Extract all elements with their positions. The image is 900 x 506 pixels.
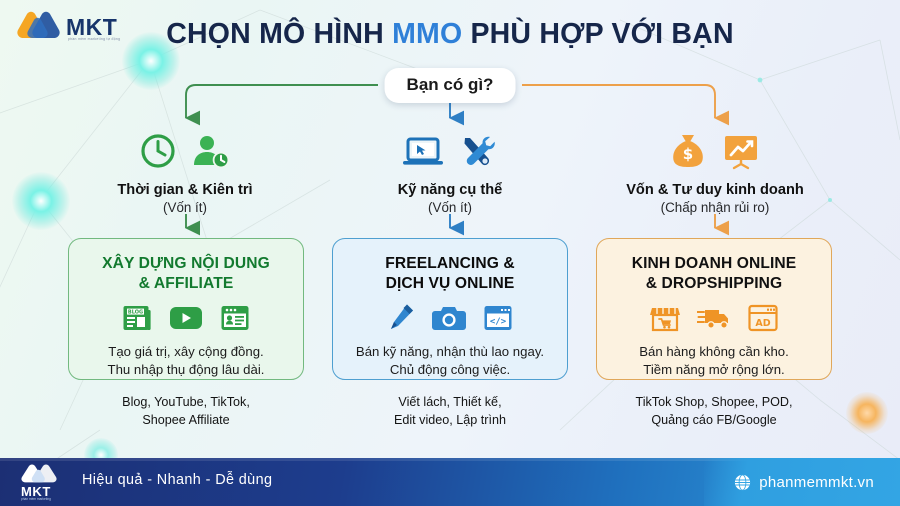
globe-icon xyxy=(734,474,751,491)
footer-website[interactable]: phanmemmkt.vn xyxy=(704,458,900,506)
infographic-canvas: MKT phần mềm marketing tự động CHỌN MÔ H… xyxy=(0,0,900,506)
footer-logo: MKT phần mềm marketing xyxy=(18,464,72,502)
footer-website-text: phanmemmkt.vn xyxy=(759,474,874,491)
mkt-logo-mark xyxy=(18,464,64,486)
root-question-node: Bạn có gì? xyxy=(385,68,516,103)
footer-bar: MKT phần mềm marketing Hiệu quả - Nhanh … xyxy=(0,458,900,506)
footer-tagline: Hiệu quả - Nhanh - Dễ dùng xyxy=(82,472,272,488)
footer-logo-tagline: phần mềm marketing xyxy=(21,497,51,501)
